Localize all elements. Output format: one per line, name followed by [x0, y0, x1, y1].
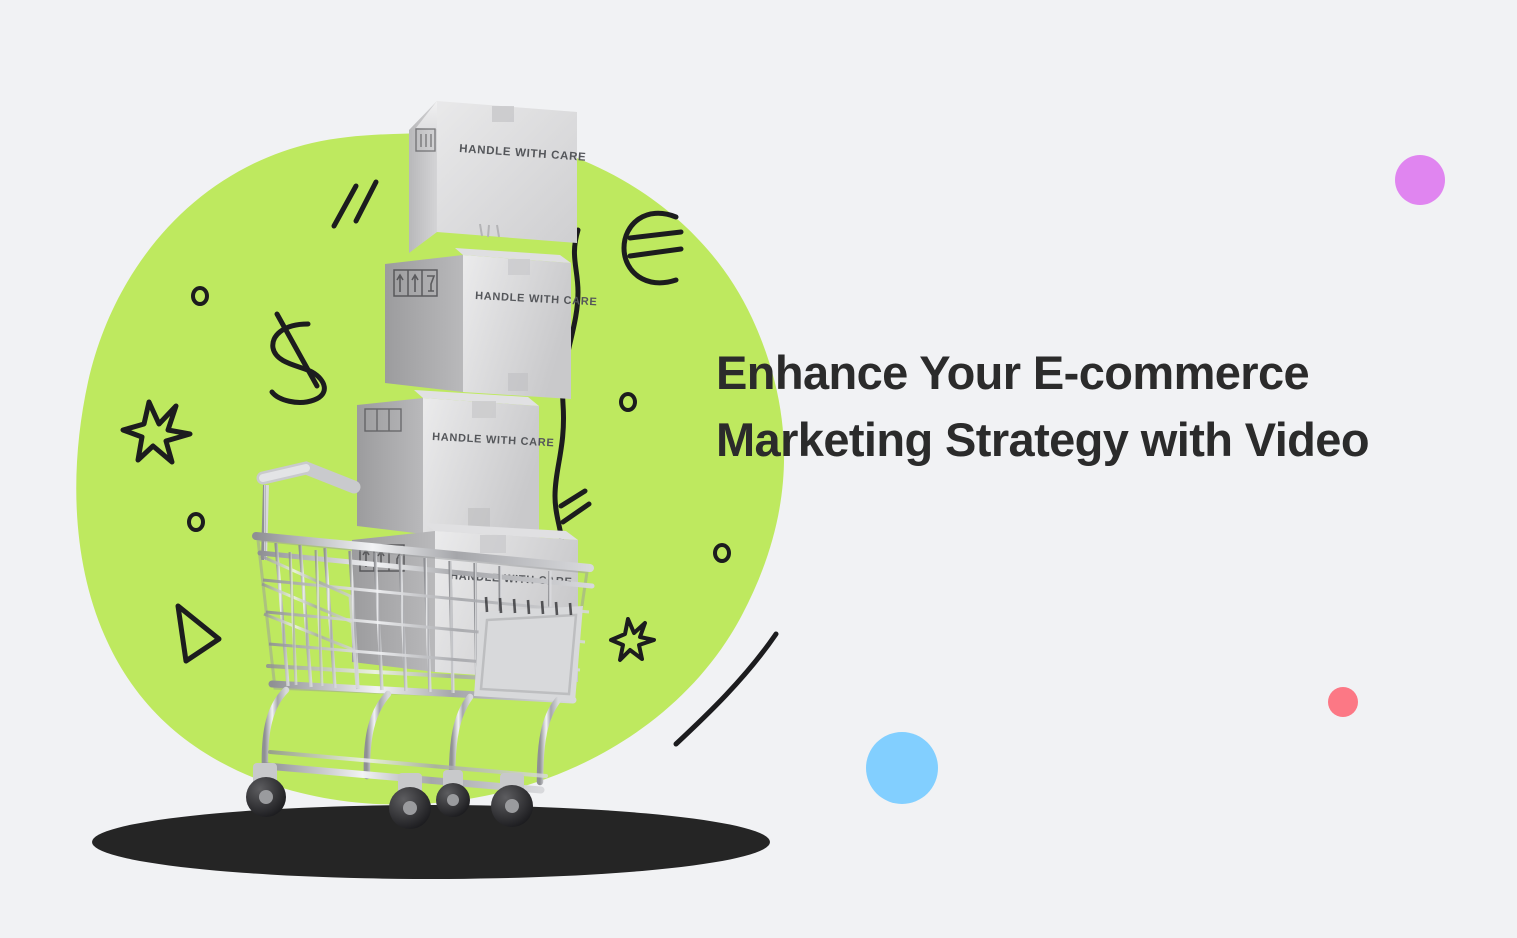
cart-front-panel [474, 606, 583, 702]
coral-accent-dot [1328, 687, 1358, 717]
box-second: HANDLE WITH CARE [385, 248, 598, 399]
box-top: HANDLE WITH CARE [409, 101, 587, 253]
hero-banner: HANDLE WITH CARE HANDLE WITH CAR [0, 0, 1517, 938]
box-third: HANDLE WITH CARE [357, 390, 555, 541]
page-title: Enhance Your E-commerce Marketing Strate… [716, 339, 1446, 473]
ground-shadow-ellipse [92, 805, 770, 879]
blue-accent-dot [866, 732, 938, 804]
purple-accent-dot [1395, 155, 1445, 205]
